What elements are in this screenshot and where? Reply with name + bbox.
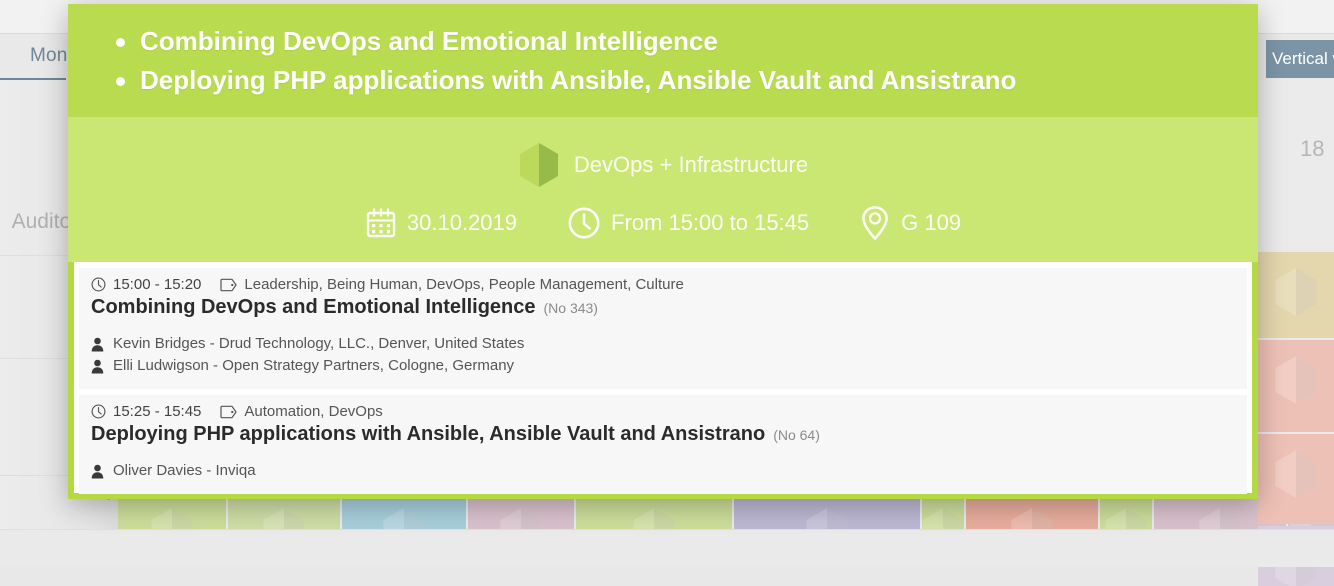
hexagon-cube-icon: [1273, 448, 1319, 500]
session-time: 15:25 - 15:45: [113, 403, 201, 420]
person-icon: [91, 337, 104, 352]
tag-icon: [220, 278, 237, 292]
time-column-header: 18: [1300, 136, 1324, 162]
highlighted-title-list: Combining DevOps and Emotional Intellige…: [98, 22, 1234, 100]
session-title-row: Combining DevOps and Emotional Intellige…: [91, 296, 1235, 319]
page-footer: [0, 529, 1334, 567]
block-tan-1[interactable]: [1258, 252, 1334, 338]
session-meta-row: 15:00 - 15:20Leadership, Being Human, De…: [91, 276, 1235, 293]
tab-monday[interactable]: Mon: [30, 45, 68, 67]
room-item: G 109: [859, 205, 961, 241]
date-item: 30.10.2019: [365, 207, 517, 239]
clock-icon: [91, 277, 106, 292]
hexagon-cube-icon: [1273, 354, 1319, 406]
session-meta-row: 15:25 - 15:45Automation, DevOps: [91, 403, 1235, 420]
clock-icon: [91, 404, 106, 419]
session-list: 15:00 - 15:20Leadership, Being Human, De…: [74, 262, 1252, 493]
speaker-name: Kevin Bridges - Drud Technology, LLC., D…: [113, 333, 524, 355]
date-label: 30.10.2019: [407, 210, 517, 236]
block-salmon-3[interactable]: [1258, 434, 1334, 524]
calendar-icon: [365, 207, 397, 239]
highlighted-title-2: Deploying PHP applications with Ansible,…: [98, 61, 1234, 100]
person-icon: [91, 464, 104, 479]
clock-icon: [567, 206, 601, 240]
hexagon-cube-icon: [518, 141, 560, 189]
speaker-row[interactable]: Oliver Davies - Inviqa: [91, 460, 1235, 482]
time-item: From 15:00 to 15:45: [567, 206, 809, 240]
session-time: 15:00 - 15:20: [113, 276, 201, 293]
time-label: From 15:00 to 15:45: [611, 210, 809, 236]
popup-header: Combining DevOps and Emotional Intellige…: [68, 4, 1258, 117]
meta-row: 30.10.2019 From 15:00 to 15:45: [68, 205, 1258, 241]
session-detail-popup[interactable]: Combining DevOps and Emotional Intellige…: [68, 4, 1258, 499]
session-item[interactable]: 15:25 - 15:45Automation, DevOpsDeploying…: [79, 395, 1247, 494]
session-tags: Automation, DevOps: [244, 403, 382, 420]
block-salmon-2[interactable]: [1258, 340, 1334, 432]
tag-icon: [220, 405, 237, 419]
hexagon-cube-icon: [1273, 266, 1319, 318]
popup-meta-section: DevOps + Infrastructure: [68, 117, 1258, 262]
person-icon: [91, 359, 104, 374]
track-row: DevOps + Infrastructure: [68, 141, 1258, 189]
highlighted-title-1: Combining DevOps and Emotional Intellige…: [98, 22, 1234, 61]
session-item[interactable]: 15:00 - 15:20Leadership, Being Human, De…: [79, 268, 1247, 389]
speaker-row[interactable]: Kevin Bridges - Drud Technology, LLC., D…: [91, 333, 1235, 355]
session-title[interactable]: Combining DevOps and Emotional Intellige…: [91, 296, 536, 319]
speaker-name: Oliver Davies - Inviqa: [113, 460, 256, 482]
room-label: G 109: [901, 210, 961, 236]
speaker-row[interactable]: Elli Ludwigson - Open Strategy Partners,…: [91, 355, 1235, 377]
session-number: (No 64): [773, 427, 820, 443]
speaker-name: Elli Ludwigson - Open Strategy Partners,…: [113, 355, 514, 377]
vertical-view-button[interactable]: Vertical view: [1266, 40, 1334, 78]
session-tags: Leadership, Being Human, DevOps, People …: [244, 276, 683, 293]
session-title[interactable]: Deploying PHP applications with Ansible,…: [91, 423, 765, 446]
session-number: (No 343): [544, 300, 598, 316]
track-name: DevOps + Infrastructure: [574, 152, 808, 178]
session-title-row: Deploying PHP applications with Ansible,…: [91, 423, 1235, 446]
location-pin-icon: [859, 205, 891, 241]
